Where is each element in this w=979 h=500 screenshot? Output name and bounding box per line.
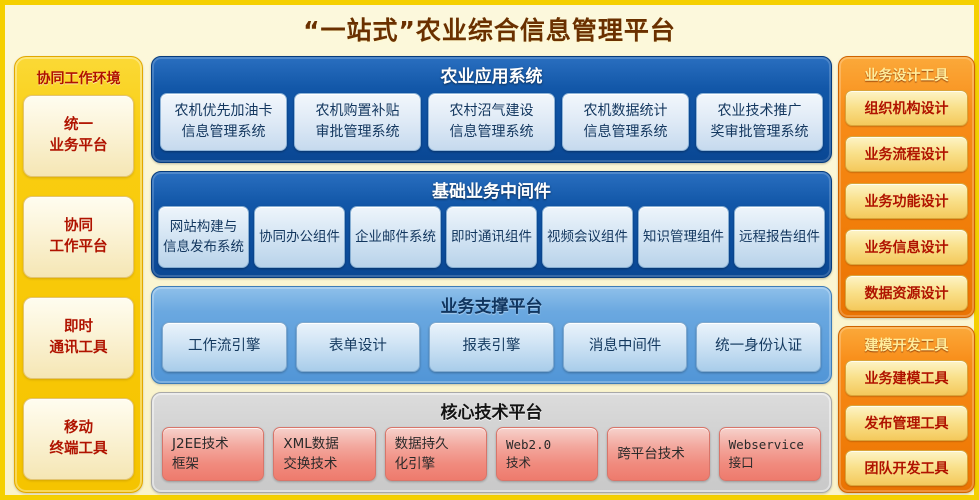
cell-line1: 协同办公组件 — [259, 227, 340, 247]
support-item-form-design[interactable]: 表单设计 — [296, 322, 421, 372]
cell-line2: 信息管理系统 — [182, 122, 266, 143]
cell-line1: Webservice — [729, 436, 804, 455]
left-item-line1: 统一 — [64, 115, 93, 136]
core-item-cross-platform-technology[interactable]: 跨平台技术 — [607, 427, 709, 481]
left-item-unified-business-platform[interactable]: 统一 业务平台 — [23, 95, 134, 177]
panel-title: 业务支撑平台 — [152, 287, 831, 321]
cell-line2: 接口 — [729, 454, 754, 473]
group-business-design-tools: 业务设计工具 组织机构设计 业务流程设计 业务功能设计 业务信息设计 数据资源设… — [838, 56, 975, 318]
middleware-item-knowledge-management[interactable]: 知识管理组件 — [638, 206, 729, 268]
panel-title: 核心技术平台 — [152, 393, 831, 427]
panel-basic-business-middleware: 基础业务中间件 网站构建与 信息发布系统 协同办公组件 企业邮件系统 即时通讯组… — [151, 171, 832, 278]
cell-line1: 即时通讯组件 — [451, 227, 532, 247]
panel-items: 农机优先加油卡 信息管理系统 农机购置补贴 审批管理系统 农村沼气建设 信息管理… — [152, 91, 831, 162]
core-item-webservice-interface[interactable]: Webservice 接口 — [719, 427, 821, 481]
cell-line1: 网站构建与 — [170, 217, 238, 237]
left-panel-items: 统一 业务平台 协同 工作平台 即时 通讯工具 移动 终端工具 — [23, 95, 134, 484]
cell-line1: XML数据 — [283, 434, 338, 454]
group-modeling-development-tools: 建模开发工具 业务建模工具 发布管理工具 团队开发工具 — [838, 326, 975, 493]
right-tools-column: 业务设计工具 组织机构设计 业务流程设计 业务功能设计 业务信息设计 数据资源设… — [838, 56, 975, 493]
cell-line1: 农机购置补贴 — [316, 101, 400, 122]
tool-release-management[interactable]: 发布管理工具 — [845, 405, 968, 441]
cell-line1: 视频会议组件 — [547, 227, 628, 247]
support-item-message-middleware[interactable]: 消息中间件 — [563, 322, 688, 372]
cell-line1: 消息中间件 — [589, 336, 662, 358]
left-item-line1: 协同 — [64, 216, 93, 237]
cell-line1: 工作流引擎 — [188, 336, 261, 358]
panel-core-technology-platform: 核心技术平台 J2EE技术 框架 XML数据 交换技术 数据持久 化引擎 Web… — [151, 392, 832, 493]
center-stack: 农业应用系统 农机优先加油卡 信息管理系统 农机购置补贴 审批管理系统 农村沼气… — [151, 56, 832, 493]
cell-line1: J2EE技术 — [172, 434, 229, 454]
cell-line1: 农机优先加油卡 — [175, 101, 273, 122]
left-item-line1: 即时 — [64, 317, 93, 338]
group-items: 组织机构设计 业务流程设计 业务功能设计 业务信息设计 数据资源设计 — [845, 90, 968, 311]
cell-line1: 远程报告组件 — [739, 227, 820, 247]
cell-line2: 信息发布系统 — [163, 237, 244, 257]
cell-line2: 化引擎 — [395, 454, 436, 474]
middleware-item-video-conference[interactable]: 视频会议组件 — [542, 206, 633, 268]
panel-items: 网站构建与 信息发布系统 协同办公组件 企业邮件系统 即时通讯组件 视频会议组件… — [152, 206, 831, 277]
cell-line2: 信息管理系统 — [450, 122, 534, 143]
app-item-biogas-construction-system[interactable]: 农村沼气建设 信息管理系统 — [428, 93, 555, 151]
support-item-workflow-engine[interactable]: 工作流引擎 — [162, 322, 287, 372]
panel-business-support-platform: 业务支撑平台 工作流引擎 表单设计 报表引擎 消息中间件 统一身份认证 — [151, 286, 832, 384]
left-item-line1: 移动 — [64, 418, 93, 439]
tool-business-information-design[interactable]: 业务信息设计 — [845, 229, 968, 265]
middleware-item-collaborative-office[interactable]: 协同办公组件 — [254, 206, 345, 268]
app-item-technology-promotion-award-system[interactable]: 农业技术推广 奖审批管理系统 — [696, 93, 823, 151]
cell-line1: 农机数据统计 — [584, 101, 668, 122]
cell-line2: 技术 — [506, 454, 531, 473]
panel-title: 基础业务中间件 — [152, 172, 831, 206]
middleware-item-website-build-publish[interactable]: 网站构建与 信息发布系统 — [158, 206, 249, 268]
cell-line2: 交换技术 — [283, 454, 337, 474]
app-item-purchase-subsidy-system[interactable]: 农机购置补贴 审批管理系统 — [294, 93, 421, 151]
panel-items: 工作流引擎 表单设计 报表引擎 消息中间件 统一身份认证 — [152, 321, 831, 383]
diagram-root: “一站式”农业综合信息管理平台 协同工作环境 统一 业务平台 协同 工作平台 即… — [0, 0, 979, 500]
group-title: 业务设计工具 — [845, 61, 968, 90]
cell-line1: 跨平台技术 — [617, 444, 685, 464]
left-item-line2: 业务平台 — [50, 136, 108, 157]
panel-title: 农业应用系统 — [152, 57, 831, 91]
cell-line1: 农村沼气建设 — [450, 101, 534, 122]
left-item-mobile-terminal-tool[interactable]: 移动 终端工具 — [23, 398, 134, 480]
page-title-bar: “一站式”农业综合信息管理平台 — [5, 5, 974, 53]
left-item-instant-messaging-tool[interactable]: 即时 通讯工具 — [23, 297, 134, 379]
core-item-j2ee-framework[interactable]: J2EE技术 框架 — [162, 427, 264, 481]
group-items: 业务建模工具 发布管理工具 团队开发工具 — [845, 360, 968, 486]
middleware-item-instant-messaging[interactable]: 即时通讯组件 — [446, 206, 537, 268]
cell-line1: 报表引擎 — [462, 336, 520, 358]
tool-organization-structure-design[interactable]: 组织机构设计 — [845, 90, 968, 126]
cell-line1: Web2.0 — [506, 436, 551, 455]
cell-line2: 奖审批管理系统 — [711, 122, 809, 143]
cell-line1: 表单设计 — [329, 336, 387, 358]
app-item-machinery-statistics-system[interactable]: 农机数据统计 信息管理系统 — [562, 93, 689, 151]
cell-line1: 数据持久 — [395, 434, 449, 454]
collaborative-work-environment-panel: 协同工作环境 统一 业务平台 协同 工作平台 即时 通讯工具 移动 终端工具 — [14, 56, 143, 493]
app-item-fuel-card-system[interactable]: 农机优先加油卡 信息管理系统 — [160, 93, 287, 151]
panel-items: J2EE技术 框架 XML数据 交换技术 数据持久 化引擎 Web2.0 技术 … — [152, 427, 831, 492]
left-item-collaborative-work-platform[interactable]: 协同 工作平台 — [23, 196, 134, 278]
middleware-item-enterprise-mail[interactable]: 企业邮件系统 — [350, 206, 441, 268]
tool-team-development[interactable]: 团队开发工具 — [845, 450, 968, 486]
cell-line1: 知识管理组件 — [643, 227, 724, 247]
panel-agriculture-application-system: 农业应用系统 农机优先加油卡 信息管理系统 农机购置补贴 审批管理系统 农村沼气… — [151, 56, 832, 163]
page-title: “一站式”农业综合信息管理平台 — [303, 11, 676, 47]
support-item-report-engine[interactable]: 报表引擎 — [429, 322, 554, 372]
core-item-data-persistence-engine[interactable]: 数据持久 化引擎 — [385, 427, 487, 481]
cell-line2: 框架 — [172, 454, 199, 474]
support-item-unified-identity-auth[interactable]: 统一身份认证 — [696, 322, 821, 372]
core-item-xml-data-exchange[interactable]: XML数据 交换技术 — [273, 427, 375, 481]
cell-line2: 审批管理系统 — [316, 122, 400, 143]
group-title: 建模开发工具 — [845, 331, 968, 360]
cell-line1: 企业邮件系统 — [355, 227, 436, 247]
tool-data-resource-design[interactable]: 数据资源设计 — [845, 275, 968, 311]
middleware-item-remote-report[interactable]: 远程报告组件 — [734, 206, 825, 268]
tool-business-process-design[interactable]: 业务流程设计 — [845, 136, 968, 172]
left-item-line2: 通讯工具 — [50, 338, 108, 359]
tool-business-modeling[interactable]: 业务建模工具 — [845, 360, 968, 396]
cell-line1: 统一身份认证 — [715, 336, 802, 358]
cell-line2: 信息管理系统 — [584, 122, 668, 143]
core-item-web2-technology[interactable]: Web2.0 技术 — [496, 427, 598, 481]
tool-business-function-design[interactable]: 业务功能设计 — [845, 183, 968, 219]
left-item-line2: 工作平台 — [50, 237, 108, 258]
left-panel-title: 协同工作环境 — [23, 63, 134, 95]
left-item-line2: 终端工具 — [50, 439, 108, 460]
cell-line1: 农业技术推广 — [718, 101, 802, 122]
